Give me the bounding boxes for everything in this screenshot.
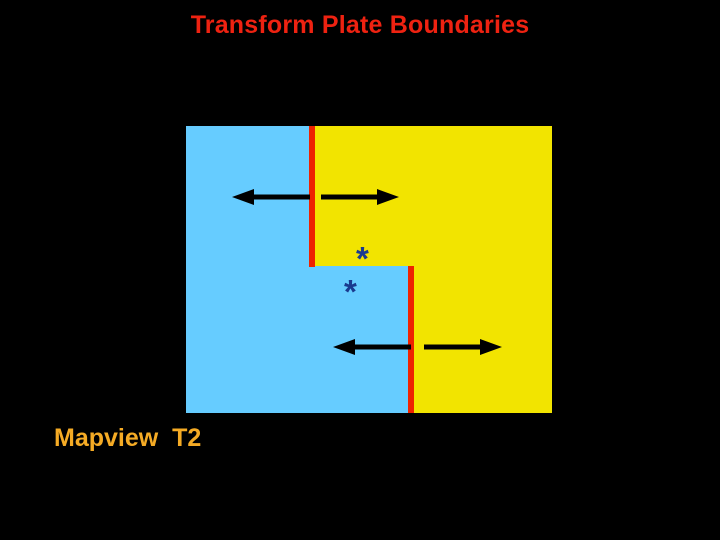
arrow-right-icon-bottom <box>424 338 502 356</box>
mapview-caption: Mapview T2 <box>54 424 201 453</box>
earthquake-marker-lower: * <box>344 275 357 308</box>
page-title: Transform Plate Boundaries <box>0 11 720 40</box>
arrow-left-icon-top <box>232 188 310 206</box>
tectonic-map-diagram: * * <box>186 126 552 413</box>
arrow-right-icon-top <box>321 188 399 206</box>
earthquake-marker-upper: * <box>356 242 369 275</box>
slide-canvas: Transform Plate Boundaries <box>0 0 720 540</box>
arrow-left-icon-bottom <box>333 338 411 356</box>
